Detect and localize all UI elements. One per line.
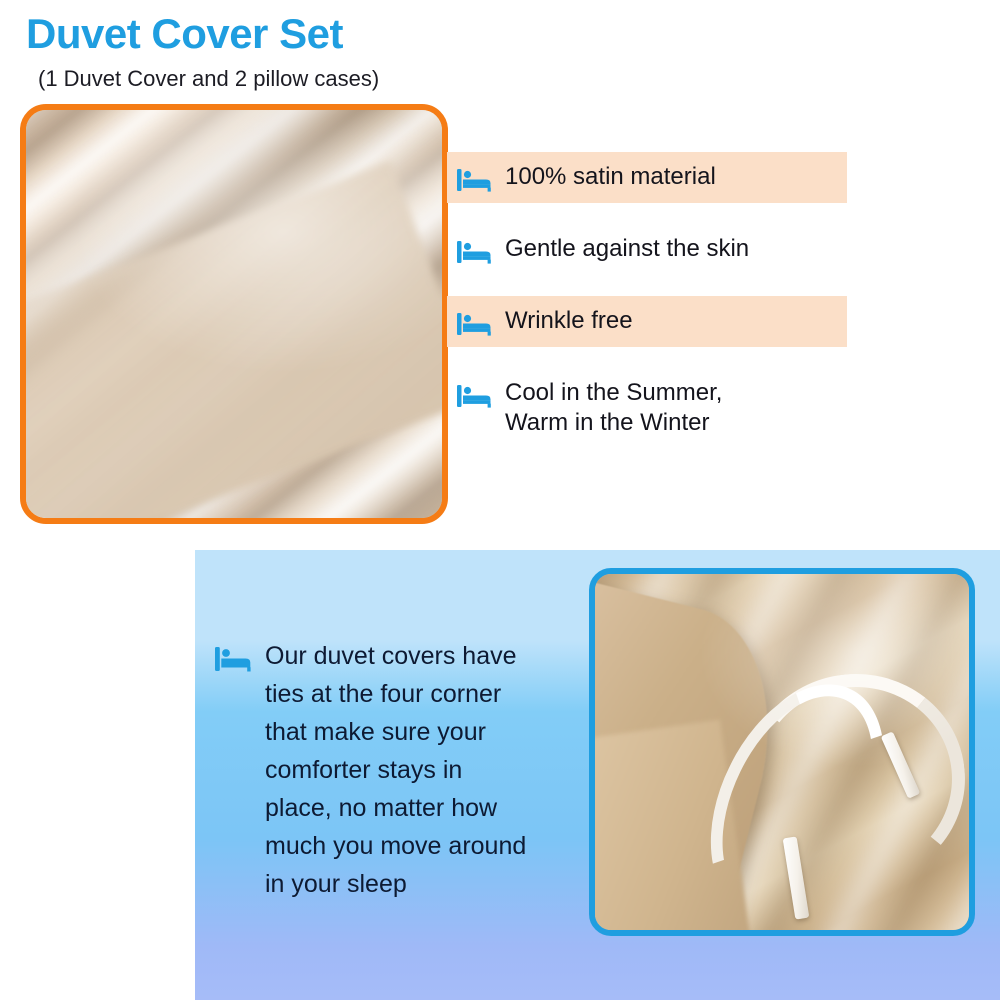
feature-item-gentle-skin: Gentle against the skin xyxy=(447,224,847,275)
bed-icon xyxy=(457,383,495,409)
feature-spacer xyxy=(447,347,847,368)
bed-icon xyxy=(457,239,495,265)
page-title: Duvet Cover Set xyxy=(26,13,343,55)
feature-spacer xyxy=(447,203,847,224)
infographic-page: Duvet Cover Set (1 Duvet Cover and 2 pil… xyxy=(0,0,1000,1000)
satin-sheen xyxy=(26,110,442,518)
ties-description-block: Our duvet covers have ties at the four c… xyxy=(215,637,585,903)
feature-item-cool-summer-warm-winter: Cool in the Summer, Warm in the Winter xyxy=(447,368,847,448)
bed-icon xyxy=(215,645,255,673)
bed-icon xyxy=(457,311,495,337)
feature-label: Gentle against the skin xyxy=(505,234,749,264)
fabric-photo xyxy=(20,104,448,524)
page-subtitle: (1 Duvet Cover and 2 pillow cases) xyxy=(38,68,379,90)
bed-icon xyxy=(457,167,495,193)
feature-label: Cool in the Summer, Warm in the Winter xyxy=(505,378,722,438)
ties-sheen xyxy=(595,574,969,930)
ties-photo xyxy=(589,568,975,936)
feature-item-satin-material: 100% satin material xyxy=(447,152,847,203)
header: Duvet Cover Set (1 Duvet Cover and 2 pil… xyxy=(0,0,470,100)
feature-list: 100% satin material Gentle against the s… xyxy=(447,152,847,448)
feature-spacer xyxy=(447,275,847,296)
feature-label: Wrinkle free xyxy=(505,306,633,336)
feature-item-wrinkle-free: Wrinkle free xyxy=(447,296,847,347)
ties-description-text: Our duvet covers have ties at the four c… xyxy=(265,637,526,903)
feature-label: 100% satin material xyxy=(505,162,716,192)
